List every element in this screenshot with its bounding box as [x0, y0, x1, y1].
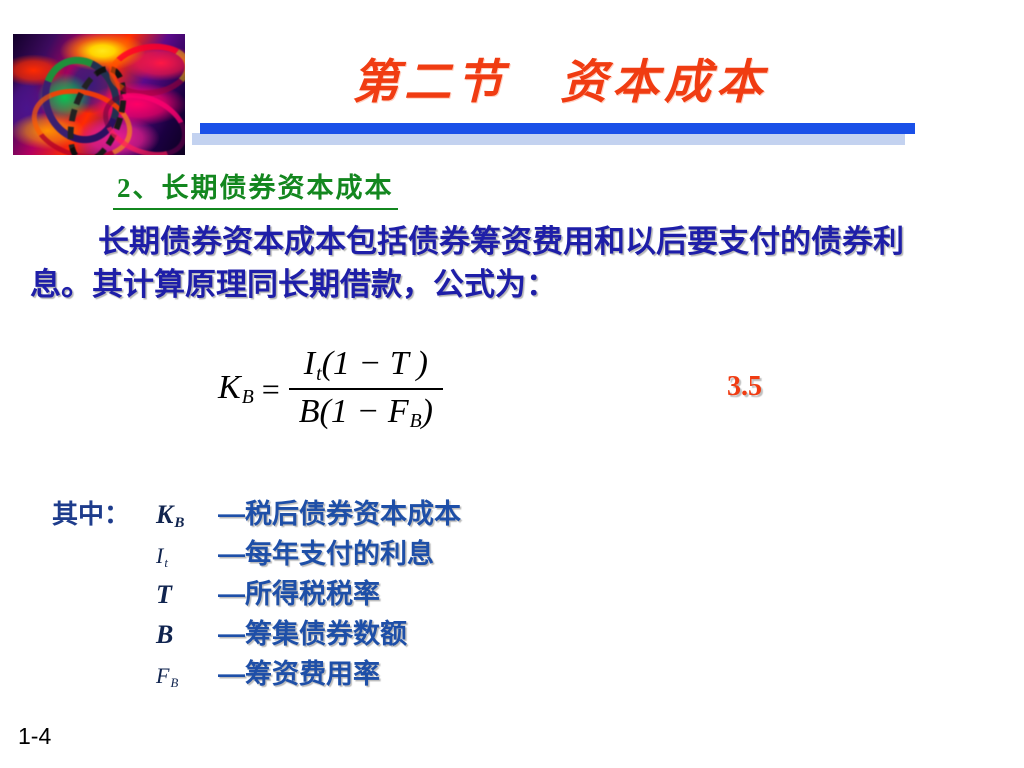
- legend-dash: —: [218, 659, 245, 689]
- formula-fraction: It(1 − T ) B(1 − FB): [289, 345, 443, 433]
- legend-dash: —: [218, 619, 245, 649]
- legend-label: 其中：: [52, 494, 156, 531]
- legend-description: —筹集债券数额: [218, 612, 407, 651]
- legend-symbol-subscript: [173, 635, 174, 651]
- legend-description-text: 每年支付的利息: [245, 539, 434, 569]
- legend-symbol-base: K: [156, 500, 173, 529]
- legend-symbol: KB: [156, 500, 218, 532]
- body-paragraph: 长期债券资本成本包括债券筹资费用和以后要支付的债券利息。其计算原理同长期借款，公…: [30, 220, 960, 306]
- legend-dash: —: [218, 499, 245, 529]
- legend-row: It —每年支付的利息: [52, 532, 461, 572]
- legend-row: 其中： KB —税后债券资本成本: [52, 492, 461, 532]
- symbol-legend-list: 其中： KB —税后债券资本成本 It —每年支付的利息 T —所得税税率 B …: [52, 492, 461, 692]
- title-rule-shadow: [192, 133, 905, 145]
- formula-denominator-subscript: B: [409, 410, 422, 432]
- formula-equals: =: [262, 371, 280, 408]
- formula-denominator: B(1 − FB): [289, 390, 443, 434]
- legend-description: —每年支付的利息: [218, 532, 434, 571]
- equation-number: 3.5: [727, 371, 762, 403]
- legend-symbol-base: B: [156, 620, 173, 649]
- formula-numerator-rest: (1 − T ): [322, 345, 428, 382]
- formula-lhs-subscript: B: [241, 386, 254, 408]
- legend-row: B —筹集债券数额: [52, 612, 461, 652]
- legend-symbol-subscript: t: [163, 556, 168, 570]
- title-rule: [200, 123, 915, 134]
- legend-description-text: 筹集债券数额: [245, 619, 407, 649]
- legend-row: FB —筹资费用率: [52, 652, 461, 692]
- bond-cost-formula: KB = It(1 − T ) B(1 − FB): [218, 345, 443, 433]
- legend-symbol: FB: [156, 663, 218, 691]
- legend-symbol-subscript: B: [173, 515, 184, 531]
- formula-lhs: KB: [218, 369, 254, 410]
- legend-description-text: 所得税税率: [245, 579, 380, 609]
- legend-symbol: It: [156, 543, 218, 571]
- formula-numerator: It(1 − T ): [294, 345, 438, 388]
- legend-symbol: T: [156, 580, 218, 612]
- legend-description-text: 税后债券资本成本: [245, 499, 461, 529]
- formula-denominator-symbol: B(1 − F: [299, 393, 409, 430]
- abstract-neon-wires-photo: [13, 34, 185, 155]
- legend-symbol-base: F: [156, 663, 169, 688]
- legend-symbol-base: T: [156, 580, 172, 609]
- legend-row: T —所得税税率: [52, 572, 461, 612]
- formula-lhs-symbol: K: [218, 369, 241, 406]
- legend-description: —税后债券资本成本: [218, 492, 461, 531]
- section-heading: 2、长期债券资本成本: [113, 166, 398, 210]
- slide-title: 第二节 资本成本: [210, 58, 910, 110]
- formula-denominator-rest: ): [422, 393, 433, 430]
- legend-dash: —: [218, 579, 245, 609]
- formula-numerator-symbol: I: [304, 345, 315, 382]
- legend-dash: —: [218, 539, 245, 569]
- legend-symbol-subscript: B: [169, 676, 178, 690]
- page-number: 1-4: [18, 723, 51, 750]
- legend-description: —所得税税率: [218, 572, 380, 611]
- legend-symbol-subscript: [172, 595, 173, 611]
- legend-symbol: B: [156, 620, 218, 652]
- slide-canvas: 第二节 资本成本 2、长期债券资本成本 长期债券资本成本包括债券筹资费用和以后要…: [0, 0, 1024, 768]
- legend-description: —筹资费用率: [218, 652, 380, 691]
- legend-description-text: 筹资费用率: [245, 659, 380, 689]
